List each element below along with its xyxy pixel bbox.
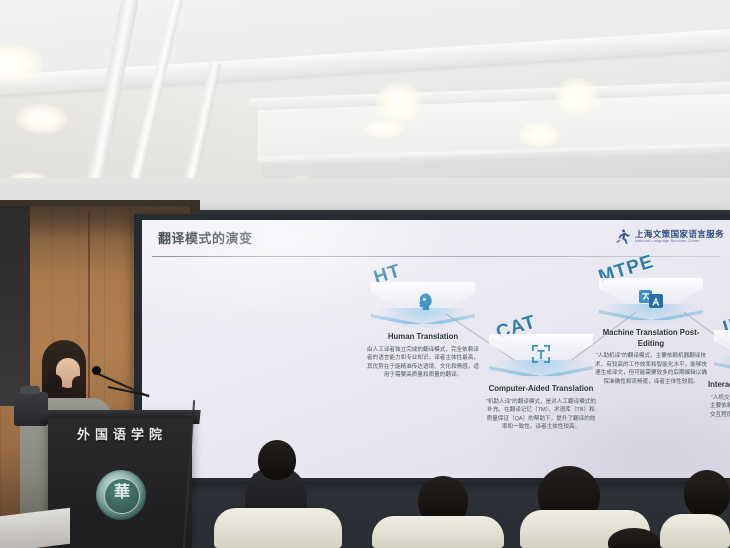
node-body-text: “机助人译”的翻译模式，是对人工翻译模式的补充。在翻译记忆（TM）、术语库（TB… (482, 398, 600, 433)
ceiling-downlight (364, 120, 404, 138)
organization-logo: 上海文策国家语言服务 National Language Services Ce… (614, 228, 724, 245)
slide-title: 翻译模式的演变 (158, 228, 253, 247)
node-body-text: “人助机译”的翻译模式，主要依赖机器翻译技术，有较高的工作效率和智能化水平，能够… (592, 352, 710, 387)
ceiling-downlight (556, 78, 598, 114)
translate-icon (638, 286, 664, 310)
diagram-node-cat[interactable]: CAT Computer-Aided Translation “机助人译”的翻译… (482, 334, 600, 432)
slide-header: 翻译模式的演变 上海文策国家语言服务 National Language Ser… (142, 220, 730, 256)
lecture-hall-photo: 翻译模式的演变 上海文策国家语言服务 National Language Ser… (0, 0, 730, 548)
audience-head (684, 470, 730, 518)
chevron-glow (720, 356, 730, 378)
logo-text-cn: 上海文策国家语言服务 (635, 230, 724, 239)
running-figure-icon (614, 228, 631, 245)
diagram-node-ht[interactable]: HT Human Translation 由人工译者独立完成的翻译模式，完全依赖… (364, 282, 482, 380)
audience-head (258, 440, 296, 480)
node-chevron (371, 282, 475, 328)
diagram-node-imt[interactable]: IMT Interactive Machine Tran (707, 330, 730, 428)
logo-text-en: National Language Services Center (635, 240, 724, 244)
node-title: Computer-Aided Translation (482, 384, 600, 395)
node-chevron (489, 334, 593, 380)
audience-chair (372, 516, 504, 548)
node-title: Machine Translation Post-Editing (592, 328, 710, 349)
podium-sign-text: 外国语学院 (58, 424, 186, 443)
node-chevron (714, 330, 730, 376)
diagram-node-mtpe[interactable]: MTPE Machine Translation Post-Editing “人… (592, 278, 710, 387)
translation-evolution-diagram: HT Human Translation 由人工译者独立完成的翻译模式，完全依赖… (142, 256, 730, 478)
node-title: Interactive Machine Translation (707, 380, 730, 391)
node-title: Human Translation (364, 332, 482, 343)
brain-head-icon (410, 290, 436, 314)
node-body-text: 由人工译者独立完成的翻译模式，完全依赖译者的语言能力和专业知识。译者主体性最高，… (364, 346, 482, 381)
audience-chair (660, 514, 730, 548)
kettle-lid (20, 386, 40, 394)
ceiling-downlight (16, 104, 68, 134)
ceiling-downlight (376, 82, 422, 122)
text-frame-icon (528, 342, 554, 366)
ceiling-downlight (518, 122, 560, 148)
audience-chair (214, 508, 342, 548)
microphone-head (92, 366, 101, 375)
logo-text: 上海文策国家语言服务 National Language Services Ce… (635, 230, 724, 244)
presentation-slide: 翻译模式的演变 上海文策国家语言服务 National Language Ser… (142, 220, 730, 478)
node-body-text: “人机交互”的翻译模式，其智能化程度很高，主要依赖于人工智能技术。译者主体性和人… (707, 394, 730, 429)
node-chevron (599, 278, 703, 324)
